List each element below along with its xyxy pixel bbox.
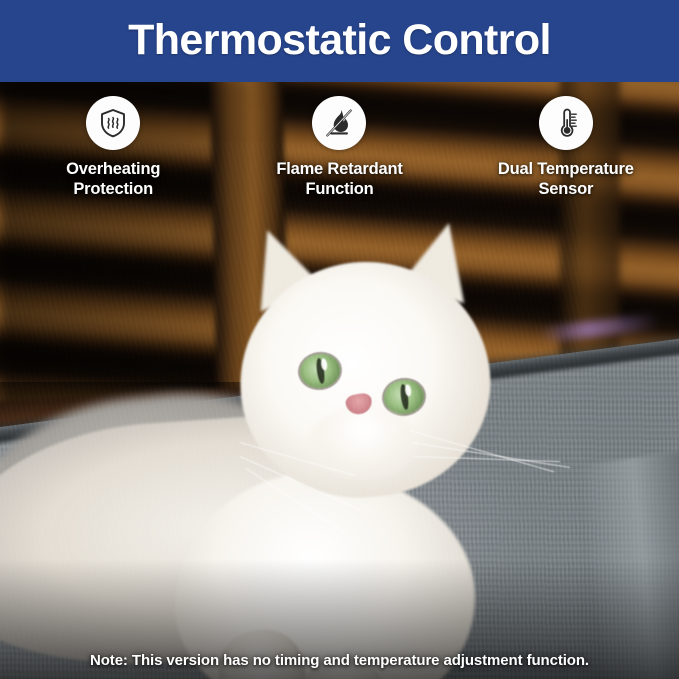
feature-label-line2: Protection: [66, 179, 160, 199]
feature-overheating-protection: Overheating Protection: [0, 96, 226, 199]
no-flame-icon: [323, 107, 355, 139]
feature-flame-retardant: Flame Retardant Function: [226, 96, 452, 199]
feature-label-line1: Flame Retardant: [276, 159, 402, 179]
header-banner: Thermostatic Control: [0, 0, 679, 82]
feature-label-line2: Sensor: [498, 179, 634, 199]
no-flame-badge: [312, 96, 366, 150]
feature-label-flame-retardant: Flame Retardant Function: [276, 159, 402, 199]
feature-label-overheating-protection: Overheating Protection: [66, 159, 160, 199]
thermometer-badge: [539, 96, 593, 150]
feature-label-line1: Dual Temperature: [498, 159, 634, 179]
feature-label-line1: Overheating: [66, 159, 160, 179]
product-feature-poster: Thermostatic Control Overheating Protect…: [0, 0, 679, 679]
shield-heat-badge: [86, 96, 140, 150]
feature-list: Overheating Protection Flame Retardant F…: [0, 96, 679, 199]
thermometer-icon: [550, 107, 582, 139]
feature-label-line2: Function: [276, 179, 402, 199]
page-title: Thermostatic Control: [0, 12, 679, 68]
feature-dual-temperature-sensor: Dual Temperature Sensor: [453, 96, 679, 199]
feature-label-dual-temperature-sensor: Dual Temperature Sensor: [498, 159, 634, 199]
footer-note: Note: This version has no timing and tem…: [0, 652, 679, 669]
shield-heat-icon: [97, 107, 129, 139]
cat-muzzle: [308, 408, 418, 480]
